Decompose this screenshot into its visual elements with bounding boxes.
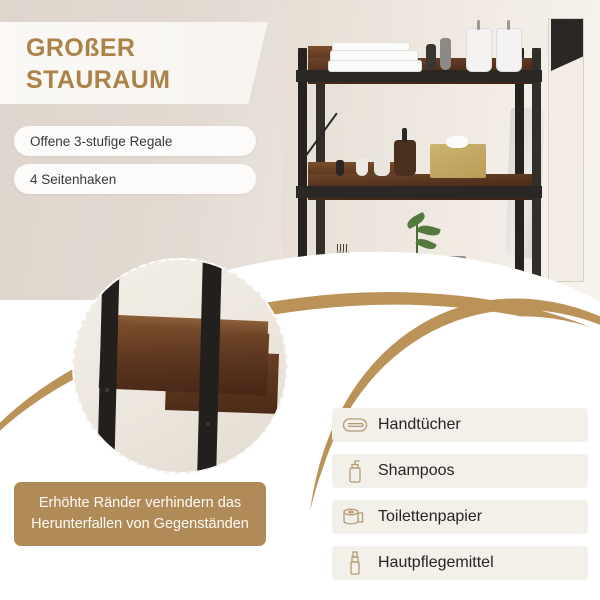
- inset-screw-right: [206, 422, 210, 426]
- headline-line-1: GROßER: [26, 32, 276, 64]
- serum-bottle-icon: [332, 549, 378, 577]
- tissue-sheet: [446, 136, 468, 148]
- feature-chip-shelves: Offene 3-stufige Regale: [14, 126, 256, 156]
- detail-inset-circle: [72, 258, 288, 474]
- bottle-white-2: [496, 28, 522, 72]
- bottle-dark-1: [426, 44, 436, 70]
- towel-3: [328, 60, 422, 72]
- product-infographic: GROßER STAURAUM Offene 3-stufige Regale …: [0, 0, 600, 600]
- pump-bottle-icon: [332, 458, 378, 484]
- bottle-cream-1: [374, 152, 390, 176]
- feature-label-towels: Handtücher: [378, 416, 461, 434]
- headline-line-2: STAURAUM: [26, 64, 276, 96]
- plant-leaf-2: [417, 223, 441, 238]
- inset-raised-rim: [99, 326, 270, 395]
- feature-row-towels: Handtücher: [332, 408, 588, 442]
- feature-chip-shelves-label: Offene 3-stufige Regale: [30, 134, 172, 149]
- detail-caption: Erhöhte Ränder verhindern das Herunterfa…: [14, 482, 266, 546]
- bottle-gray-1: [440, 38, 451, 70]
- feature-label-toilet-paper: Toilettenpapier: [378, 508, 482, 526]
- bottle-pump-2: [507, 20, 510, 30]
- soap-pump-amber: [402, 128, 407, 142]
- bottle-cream-2: [356, 158, 368, 176]
- feature-row-toilet-paper: Toilettenpapier: [332, 500, 588, 534]
- detail-inset-image: [74, 260, 286, 472]
- shelf-frame-middle: [296, 186, 542, 198]
- plant-leaf-3: [415, 236, 437, 251]
- soap-dispenser-amber: [394, 140, 416, 176]
- toilet-paper-roll-icon: [332, 506, 378, 528]
- feature-label-skincare: Hautpflegemittel: [378, 554, 494, 572]
- bottle-dark-2: [336, 160, 344, 176]
- page-title: GROßER STAURAUM: [26, 32, 276, 96]
- bottle-pump-1: [477, 20, 480, 30]
- bottle-white-1: [466, 28, 492, 72]
- feature-row-skincare: Hautpflegemittel: [332, 546, 588, 580]
- tissue-box: [430, 144, 486, 178]
- feature-label-shampoos: Shampoos: [378, 462, 455, 480]
- feature-chip-hooks-label: 4 Seitenhaken: [30, 172, 116, 187]
- feature-row-shampoos: Shampoos: [332, 454, 588, 488]
- folded-towel-icon: [332, 416, 378, 434]
- feature-chip-hooks: 4 Seitenhaken: [14, 164, 256, 194]
- inset-screw-left: [105, 388, 109, 392]
